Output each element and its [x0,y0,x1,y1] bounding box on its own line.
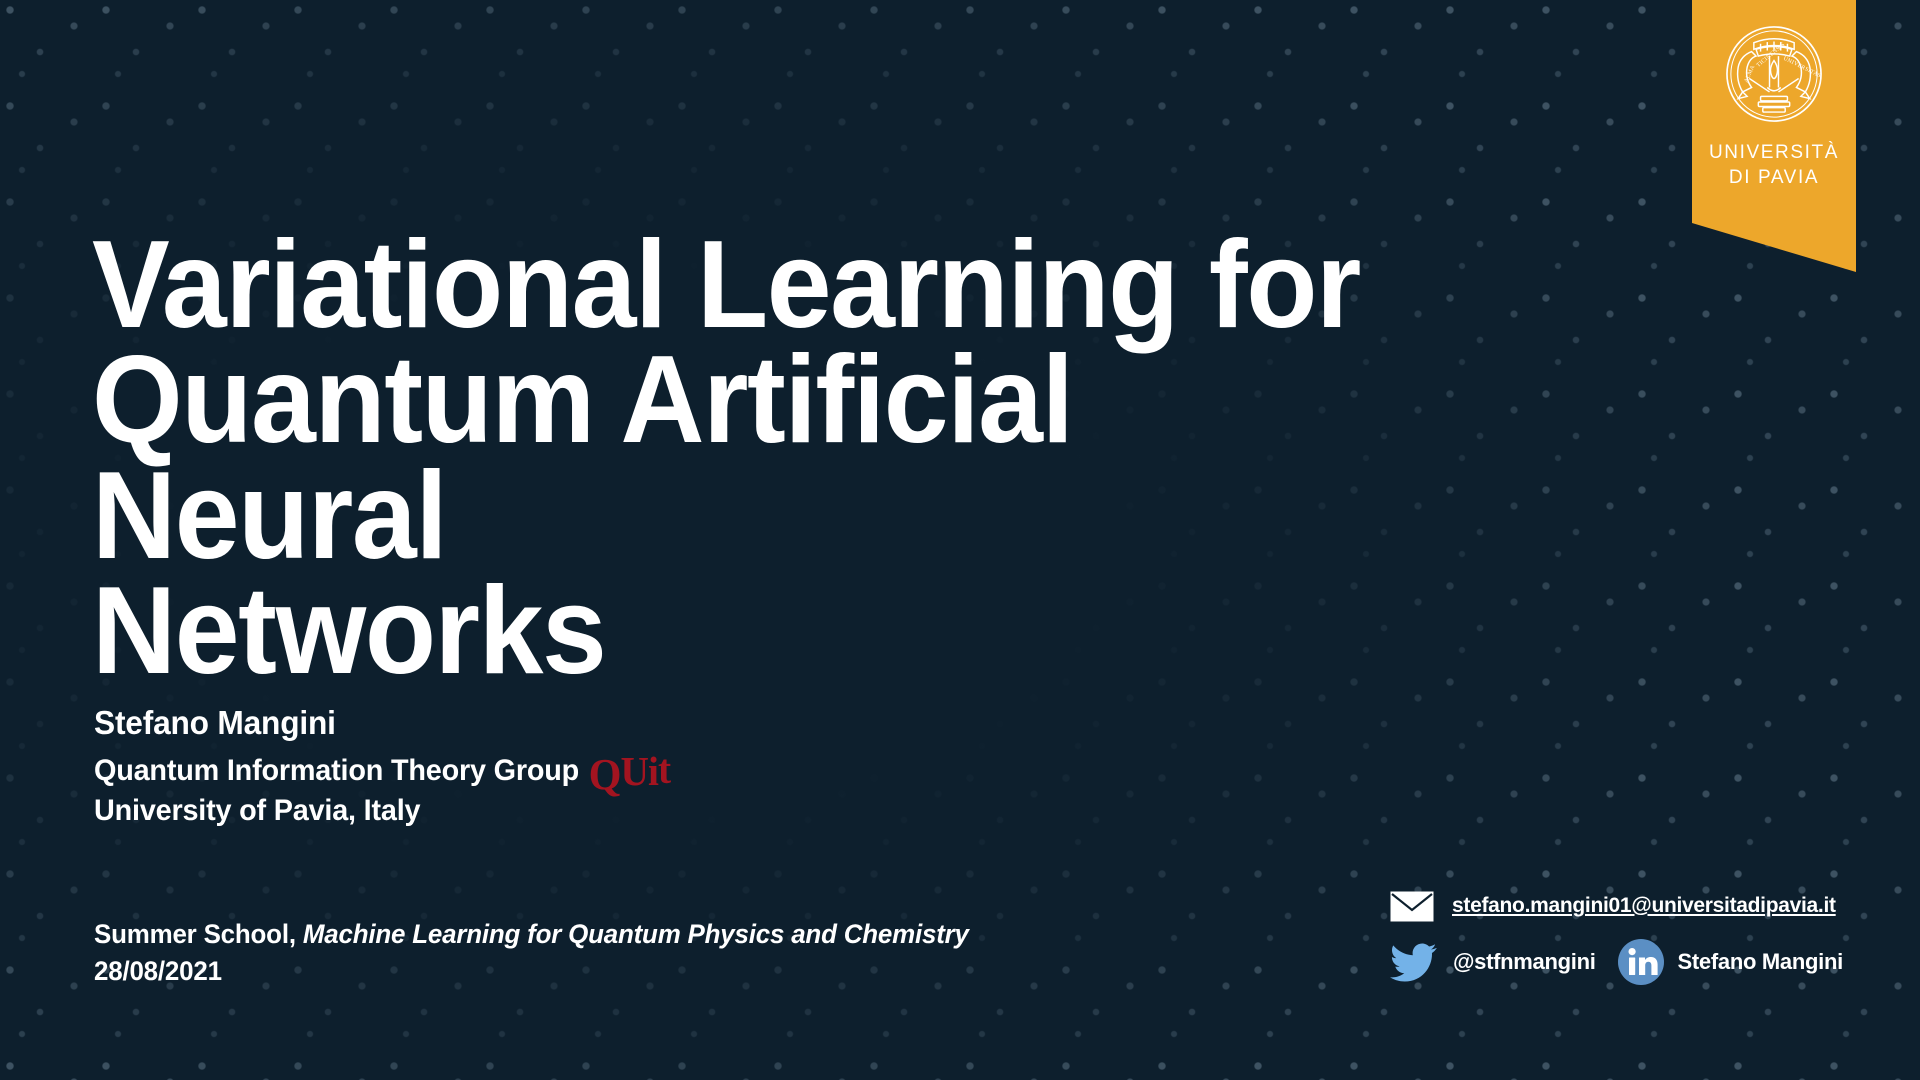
email-address[interactable]: stefano.mangini01@universitadipavia.it [1452,894,1836,918]
banner-line-university: UNIVERSITÀ [1709,140,1839,165]
event-date: 28/08/2021 [94,953,969,990]
banner-text: UNIVERSITÀ DI PAVIA [1709,140,1839,190]
author-group-line: Quantum Information Theory Group QUit [94,744,670,791]
author-block: Stefano Mangini Quantum Information Theo… [94,702,694,831]
author-affiliation: University of Pavia, Italy [94,791,420,831]
quit-logo-u: U [621,748,648,794]
author-group: Quantum Information Theory Group [94,751,579,791]
event-title-line: Summer School, Machine Learning for Quan… [94,916,969,953]
event-name: Machine Learning for Quantum Physics and… [303,919,969,949]
email-row[interactable]: stefano.mangini01@universitadipavia.it [1390,882,1843,930]
banner-line-city: DI PAVIA [1709,165,1839,190]
university-of-pavia-crest-icon: ALMA TICINENSIS UNIVERSITAS [1718,18,1830,130]
twitter-bird-icon[interactable] [1390,943,1437,982]
linkedin-icon[interactable] [1618,939,1664,985]
contact-block: stefano.mangini01@universitadipavia.it @… [1390,882,1843,986]
author-name: Stefano Mangini [94,702,670,744]
author-affiliation-line: University of Pavia, Italy [94,791,670,831]
twitter-handle[interactable]: @stfnmangini [1453,949,1596,975]
quit-logo-i: i [648,748,658,794]
social-row: @stfnmangini Stefano Mangini [1390,938,1843,986]
event-prefix: Summer School, [94,919,296,949]
svg-text:ALMA: ALMA [1743,64,1756,84]
linkedin-name[interactable]: Stefano Mangini [1678,949,1843,975]
title-slide: ALMA TICINENSIS UNIVERSITAS UNIVERSITÀ D… [0,0,1920,1080]
quit-group-logo: QUit [589,749,671,793]
envelope-icon [1390,891,1434,922]
event-block: Summer School, Machine Learning for Quan… [94,916,1005,991]
page-title: Variational Learning for Quantum Artific… [92,228,1427,689]
quit-logo-t: t [658,746,670,792]
